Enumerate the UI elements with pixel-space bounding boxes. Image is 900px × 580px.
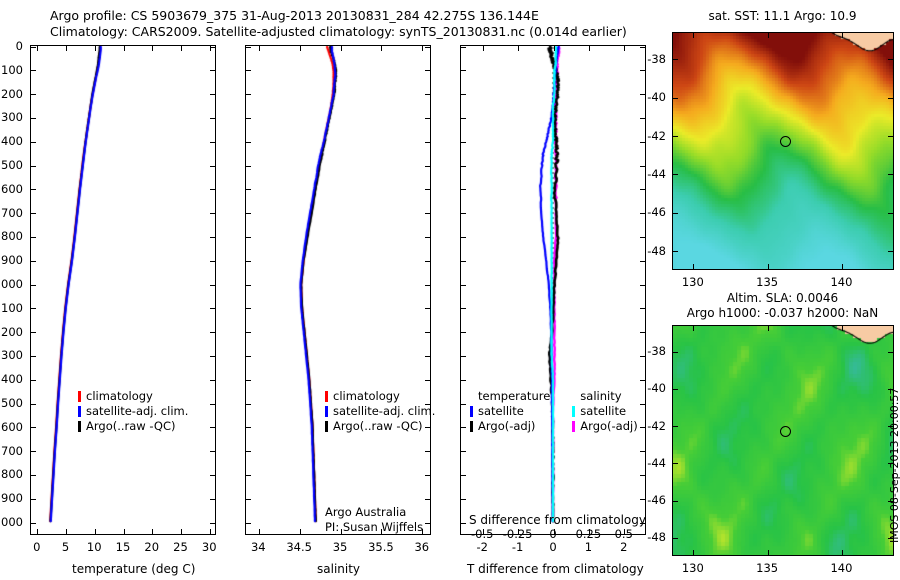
depth-tick bbox=[425, 261, 430, 262]
depth-tick bbox=[31, 404, 36, 405]
depth-tick bbox=[31, 166, 36, 167]
depth-tick-label: 1500 bbox=[0, 396, 23, 410]
map-lat-tick-label: -48 bbox=[647, 244, 666, 258]
legend-label: climatology bbox=[333, 389, 400, 404]
depth-tick bbox=[31, 70, 36, 71]
legend-item: satellite-adj. clim. bbox=[78, 404, 188, 419]
x-tick-label-top: 0.5 bbox=[615, 527, 633, 541]
depth-tick bbox=[210, 166, 215, 167]
depth-tick bbox=[246, 285, 251, 286]
depth-tick bbox=[210, 308, 215, 309]
depth-tick bbox=[461, 332, 466, 333]
difference-profile-axes bbox=[460, 45, 646, 535]
depth-tick bbox=[640, 404, 645, 405]
legend-label: Argo(-adj) bbox=[580, 419, 637, 434]
x-tick-label: 34.5 bbox=[286, 540, 312, 554]
depth-tick bbox=[461, 47, 466, 48]
depth-tick bbox=[31, 523, 36, 524]
map-lon-tick-label: 140 bbox=[830, 275, 852, 289]
map-lat-tick-label: -38 bbox=[647, 52, 666, 66]
attribution-line-1: Argo Australia bbox=[325, 505, 406, 519]
difference-salinity-axis-label: S difference from climatology bbox=[469, 513, 646, 527]
legend-swatch bbox=[572, 406, 575, 417]
depth-tick bbox=[246, 356, 251, 357]
x-tick-label: 20 bbox=[144, 540, 159, 554]
map-lat-tick-label: -46 bbox=[647, 205, 666, 219]
x-tick-label: -1 bbox=[512, 540, 523, 554]
sst-map-canvas bbox=[673, 33, 893, 269]
legend-item: satellite-adj. clim. bbox=[325, 404, 435, 419]
legend-item: Argo(..raw -QC) bbox=[78, 419, 188, 434]
map-tick bbox=[673, 389, 678, 390]
map-tick bbox=[768, 550, 769, 555]
depth-tick bbox=[640, 308, 645, 309]
depth-tick bbox=[640, 70, 645, 71]
map-tick bbox=[888, 213, 893, 214]
map-tick bbox=[888, 174, 893, 175]
legend-column: temperaturesatelliteArgo(-adj) bbox=[470, 389, 550, 434]
depth-tick bbox=[210, 380, 215, 381]
depth-tick bbox=[425, 451, 430, 452]
depth-tick bbox=[425, 142, 430, 143]
depth-tick bbox=[640, 213, 645, 214]
map-lat-tick-label: -48 bbox=[647, 530, 666, 544]
x-tick bbox=[300, 46, 301, 51]
depth-tick bbox=[640, 47, 645, 48]
map-tick bbox=[693, 550, 694, 555]
depth-tick bbox=[31, 94, 36, 95]
difference-legend: temperaturesatelliteArgo(-adj)salinitysa… bbox=[470, 389, 638, 434]
x-tick-label: 25 bbox=[173, 540, 188, 554]
depth-tick-label: 500 bbox=[1, 158, 23, 172]
map-tick bbox=[768, 264, 769, 269]
map-lon-tick-label: 130 bbox=[682, 561, 704, 575]
depth-tick bbox=[640, 475, 645, 476]
legend-header: temperature bbox=[470, 389, 550, 404]
depth-tick bbox=[425, 94, 430, 95]
x-tick-top bbox=[518, 46, 519, 51]
x-tick-label: -2 bbox=[476, 540, 487, 554]
depth-tick bbox=[425, 475, 430, 476]
legend-item: Argo(-adj) bbox=[470, 419, 550, 434]
depth-tick bbox=[246, 404, 251, 405]
x-tick bbox=[152, 529, 153, 534]
x-tick bbox=[210, 529, 211, 534]
difference-temperature-axis-label: T difference from climatology bbox=[467, 562, 644, 576]
sst-map-axes bbox=[672, 32, 894, 270]
map-tick bbox=[768, 33, 769, 38]
depth-tick bbox=[210, 451, 215, 452]
legend-label: satellite-adj. clim. bbox=[86, 404, 188, 419]
depth-tick bbox=[461, 118, 466, 119]
depth-tick bbox=[425, 499, 430, 500]
x-tick bbox=[66, 529, 67, 534]
depth-tick bbox=[210, 285, 215, 286]
map-tick bbox=[842, 264, 843, 269]
depth-tick bbox=[425, 332, 430, 333]
depth-tick bbox=[246, 118, 251, 119]
salinity-profile-axes bbox=[245, 45, 431, 535]
map-tick bbox=[673, 463, 678, 464]
salinity-legend: climatologysatellite-adj. clim.Argo(..ra… bbox=[325, 389, 435, 434]
map-lat-tick-label: -46 bbox=[647, 493, 666, 507]
map-tick bbox=[842, 550, 843, 555]
sla-map-title-line-1: Altim. SLA: 0.0046 bbox=[727, 291, 838, 305]
depth-tick bbox=[210, 523, 215, 524]
legend-header: salinity bbox=[572, 389, 637, 404]
depth-tick bbox=[210, 332, 215, 333]
depth-tick bbox=[640, 427, 645, 428]
map-tick bbox=[888, 352, 893, 353]
legend-label: Argo(..raw -QC) bbox=[86, 419, 176, 434]
depth-tick bbox=[246, 427, 251, 428]
x-tick bbox=[341, 46, 342, 51]
depth-tick-label: 2000 bbox=[0, 515, 23, 529]
depth-tick bbox=[210, 356, 215, 357]
legend-label: satellite bbox=[580, 404, 626, 419]
depth-tick-label: 1200 bbox=[0, 325, 23, 339]
legend-label: satellite bbox=[478, 404, 524, 419]
sst-map-title: sat. SST: 11.1 Argo: 10.9 bbox=[670, 9, 895, 24]
sla-map-title: Altim. SLA: 0.0046 Argo h1000: -0.037 h2… bbox=[670, 291, 895, 321]
depth-tick-label: 1600 bbox=[0, 420, 23, 434]
depth-tick bbox=[640, 499, 645, 500]
temperature-profile-axes bbox=[30, 45, 216, 535]
map-tick bbox=[768, 326, 769, 331]
depth-tick-label: 1300 bbox=[0, 348, 23, 362]
depth-tick-label: 1700 bbox=[0, 444, 23, 458]
depth-tick bbox=[210, 118, 215, 119]
x-tick bbox=[181, 529, 182, 534]
temperature-legend: climatologysatellite-adj. clim.Argo(..ra… bbox=[78, 389, 188, 434]
depth-tick-label: 1400 bbox=[0, 372, 23, 386]
map-tick bbox=[673, 174, 678, 175]
depth-tick bbox=[425, 189, 430, 190]
page-title: Argo profile: CS 5903679_375 31-Aug-2013… bbox=[50, 8, 627, 40]
x-tick bbox=[37, 46, 38, 51]
x-tick-label: 10 bbox=[87, 540, 102, 554]
legend-swatch bbox=[572, 421, 575, 432]
depth-tick bbox=[425, 308, 430, 309]
x-tick-label-top: -0.5 bbox=[471, 527, 493, 541]
map-tick bbox=[673, 213, 678, 214]
map-tick bbox=[693, 326, 694, 331]
depth-tick bbox=[425, 237, 430, 238]
x-tick-label: 30 bbox=[202, 540, 217, 554]
depth-tick bbox=[31, 451, 36, 452]
map-tick bbox=[693, 33, 694, 38]
depth-tick bbox=[461, 499, 466, 500]
x-tick bbox=[124, 529, 125, 534]
depth-tick bbox=[210, 475, 215, 476]
x-tick-top bbox=[554, 46, 555, 51]
sla-map-axes bbox=[672, 325, 894, 556]
depth-tick bbox=[31, 380, 36, 381]
depth-tick bbox=[31, 499, 36, 500]
depth-tick bbox=[425, 213, 430, 214]
map-tick bbox=[693, 264, 694, 269]
legend-swatch bbox=[325, 406, 328, 417]
map-tick bbox=[673, 538, 678, 539]
legend-swatch bbox=[78, 406, 81, 417]
depth-tick bbox=[461, 70, 466, 71]
x-tick bbox=[95, 529, 96, 534]
depth-tick bbox=[425, 285, 430, 286]
depth-tick bbox=[31, 356, 36, 357]
depth-tick bbox=[246, 523, 251, 524]
map-tick bbox=[888, 59, 893, 60]
x-tick-top bbox=[589, 46, 590, 51]
legend-label: satellite-adj. clim. bbox=[333, 404, 435, 419]
depth-tick bbox=[461, 475, 466, 476]
map-lon-tick-label: 140 bbox=[830, 561, 852, 575]
depth-tick bbox=[640, 94, 645, 95]
depth-tick bbox=[31, 308, 36, 309]
map-lat-tick-label: -40 bbox=[647, 90, 666, 104]
map-tick bbox=[888, 136, 893, 137]
depth-tick bbox=[640, 285, 645, 286]
legend-item: climatology bbox=[325, 389, 435, 404]
map-tick bbox=[673, 251, 678, 252]
map-tick bbox=[673, 136, 678, 137]
x-tick-label-top: 0 bbox=[549, 527, 556, 541]
legend-item: satellite bbox=[470, 404, 550, 419]
difference-profile-canvas bbox=[461, 46, 645, 534]
depth-tick bbox=[210, 189, 215, 190]
depth-tick bbox=[461, 308, 466, 309]
x-tick bbox=[381, 46, 382, 51]
depth-tick bbox=[461, 404, 466, 405]
depth-tick bbox=[640, 118, 645, 119]
depth-tick bbox=[246, 47, 251, 48]
legend-swatch bbox=[78, 391, 81, 402]
depth-tick bbox=[461, 451, 466, 452]
map-lat-tick-label: -42 bbox=[647, 419, 666, 433]
depth-tick-label: 600 bbox=[1, 182, 23, 196]
depth-tick bbox=[31, 475, 36, 476]
depth-tick bbox=[246, 166, 251, 167]
legend-label: climatology bbox=[86, 389, 153, 404]
depth-tick bbox=[246, 142, 251, 143]
x-tick bbox=[124, 46, 125, 51]
legend-swatch bbox=[470, 406, 473, 417]
sst-profile-location-marker bbox=[780, 136, 791, 147]
map-tick bbox=[888, 251, 893, 252]
legend-item: Argo(-adj) bbox=[572, 419, 637, 434]
map-lon-tick-label: 135 bbox=[756, 275, 778, 289]
x-tick-label: 0 bbox=[549, 540, 556, 554]
depth-tick bbox=[461, 523, 466, 524]
depth-tick bbox=[461, 94, 466, 95]
depth-tick bbox=[210, 261, 215, 262]
x-tick bbox=[259, 46, 260, 51]
depth-tick bbox=[210, 237, 215, 238]
map-lat-tick-label: -40 bbox=[647, 381, 666, 395]
salinity-axis-label: salinity bbox=[317, 562, 360, 576]
x-tick bbox=[37, 529, 38, 534]
depth-tick bbox=[640, 142, 645, 143]
depth-tick bbox=[640, 356, 645, 357]
depth-tick-label: 900 bbox=[1, 253, 23, 267]
depth-tick bbox=[210, 47, 215, 48]
title-line-2: Climatology: CARS2009. Satellite-adjuste… bbox=[50, 24, 627, 39]
x-tick bbox=[210, 46, 211, 51]
depth-tick bbox=[640, 261, 645, 262]
depth-tick bbox=[461, 189, 466, 190]
x-tick bbox=[66, 46, 67, 51]
map-lat-tick-label: -44 bbox=[647, 456, 666, 470]
depth-tick bbox=[640, 380, 645, 381]
depth-tick bbox=[461, 213, 466, 214]
depth-tick-label: 400 bbox=[1, 134, 23, 148]
salinity-profile-canvas bbox=[246, 46, 430, 534]
depth-tick bbox=[31, 213, 36, 214]
map-tick bbox=[673, 501, 678, 502]
x-tick-label: 35.5 bbox=[368, 540, 394, 554]
x-tick-label: 0 bbox=[33, 540, 40, 554]
depth-tick bbox=[210, 404, 215, 405]
depth-tick bbox=[640, 237, 645, 238]
x-tick-label: 2 bbox=[620, 540, 627, 554]
temperature-profile-canvas bbox=[31, 46, 215, 534]
depth-tick bbox=[246, 308, 251, 309]
depth-tick-label: 300 bbox=[1, 110, 23, 124]
x-tick bbox=[181, 46, 182, 51]
legend-swatch bbox=[470, 421, 473, 432]
map-tick bbox=[842, 326, 843, 331]
legend-swatch bbox=[78, 421, 81, 432]
depth-tick bbox=[210, 94, 215, 95]
legend-swatch bbox=[325, 421, 328, 432]
depth-tick bbox=[461, 285, 466, 286]
sla-map-canvas bbox=[673, 326, 893, 555]
x-tick-label: 36 bbox=[414, 540, 429, 554]
map-tick bbox=[673, 352, 678, 353]
map-tick bbox=[673, 59, 678, 60]
depth-tick bbox=[210, 213, 215, 214]
legend-label: Argo(-adj) bbox=[478, 419, 535, 434]
depth-tick bbox=[461, 427, 466, 428]
depth-tick bbox=[210, 70, 215, 71]
x-tick-label: 5 bbox=[62, 540, 69, 554]
sla-map-title-line-2: Argo h1000: -0.037 h2000: NaN bbox=[687, 306, 879, 320]
x-tick bbox=[259, 529, 260, 534]
depth-tick bbox=[425, 380, 430, 381]
x-tick-label: 1 bbox=[585, 540, 592, 554]
depth-tick bbox=[31, 237, 36, 238]
depth-tick-label: 1000 bbox=[0, 277, 23, 291]
depth-tick bbox=[246, 475, 251, 476]
depth-tick bbox=[31, 332, 36, 333]
depth-tick bbox=[461, 142, 466, 143]
legend-item: climatology bbox=[78, 389, 188, 404]
depth-tick bbox=[246, 94, 251, 95]
depth-tick bbox=[461, 380, 466, 381]
depth-tick bbox=[31, 118, 36, 119]
x-tick bbox=[152, 46, 153, 51]
x-tick-label: 15 bbox=[116, 540, 131, 554]
depth-tick-label: 200 bbox=[1, 87, 23, 101]
depth-tick-label: 1800 bbox=[0, 467, 23, 481]
depth-tick bbox=[210, 427, 215, 428]
x-tick-top bbox=[483, 46, 484, 51]
depth-tick-label: 100 bbox=[1, 63, 23, 77]
map-lon-tick-label: 135 bbox=[756, 561, 778, 575]
map-lat-tick-label: -42 bbox=[647, 129, 666, 143]
depth-tick bbox=[246, 380, 251, 381]
title-line-1: Argo profile: CS 5903679_375 31-Aug-2013… bbox=[50, 8, 539, 23]
depth-tick bbox=[31, 285, 36, 286]
depth-tick bbox=[461, 166, 466, 167]
depth-tick bbox=[210, 142, 215, 143]
depth-tick-label: 0 bbox=[16, 39, 23, 53]
imos-timestamp: IMOS 08-Sep-2013 20:00:57 bbox=[888, 388, 900, 543]
depth-tick-label: 700 bbox=[1, 206, 23, 220]
depth-tick bbox=[246, 189, 251, 190]
x-tick bbox=[95, 46, 96, 51]
sla-profile-location-marker bbox=[780, 426, 791, 437]
depth-tick-label: 1100 bbox=[0, 301, 23, 315]
x-tick-label-top: 0.25 bbox=[576, 527, 602, 541]
depth-tick bbox=[246, 261, 251, 262]
depth-tick bbox=[425, 523, 430, 524]
map-lat-tick-label: -44 bbox=[647, 167, 666, 181]
map-tick bbox=[888, 98, 893, 99]
depth-tick bbox=[246, 332, 251, 333]
map-lon-tick-label: 130 bbox=[682, 275, 704, 289]
x-tick-label: 34 bbox=[251, 540, 266, 554]
depth-tick bbox=[640, 332, 645, 333]
depth-tick bbox=[246, 237, 251, 238]
depth-tick-label: 1900 bbox=[0, 491, 23, 505]
depth-tick bbox=[425, 356, 430, 357]
depth-tick bbox=[210, 499, 215, 500]
legend-item: Argo(..raw -QC) bbox=[325, 419, 435, 434]
attribution-line-2: PI: Susan Wijffels bbox=[325, 520, 423, 534]
depth-tick bbox=[246, 213, 251, 214]
legend-item: satellite bbox=[572, 404, 637, 419]
depth-tick bbox=[461, 237, 466, 238]
depth-tick bbox=[461, 261, 466, 262]
depth-tick bbox=[425, 118, 430, 119]
map-tick bbox=[842, 33, 843, 38]
temperature-axis-label: temperature (deg C) bbox=[72, 562, 195, 576]
depth-tick bbox=[461, 356, 466, 357]
depth-tick bbox=[640, 189, 645, 190]
attribution: Argo Australia PI: Susan Wijffels bbox=[325, 505, 423, 535]
depth-tick bbox=[246, 451, 251, 452]
depth-tick bbox=[425, 70, 430, 71]
x-tick-label: 35 bbox=[333, 540, 348, 554]
depth-tick bbox=[425, 166, 430, 167]
x-tick bbox=[300, 529, 301, 534]
map-lat-tick-label: -38 bbox=[647, 344, 666, 358]
depth-tick bbox=[31, 189, 36, 190]
depth-tick bbox=[31, 142, 36, 143]
legend-label: Argo(..raw -QC) bbox=[333, 419, 423, 434]
depth-tick bbox=[640, 451, 645, 452]
x-tick-label-top: -0.25 bbox=[503, 527, 533, 541]
depth-tick-label: 800 bbox=[1, 229, 23, 243]
x-tick-top bbox=[624, 46, 625, 51]
depth-tick bbox=[246, 499, 251, 500]
depth-tick bbox=[31, 261, 36, 262]
depth-tick bbox=[640, 166, 645, 167]
depth-tick bbox=[31, 47, 36, 48]
depth-tick bbox=[246, 70, 251, 71]
x-tick bbox=[422, 46, 423, 51]
legend-column: salinitysatelliteArgo(-adj) bbox=[572, 389, 637, 434]
